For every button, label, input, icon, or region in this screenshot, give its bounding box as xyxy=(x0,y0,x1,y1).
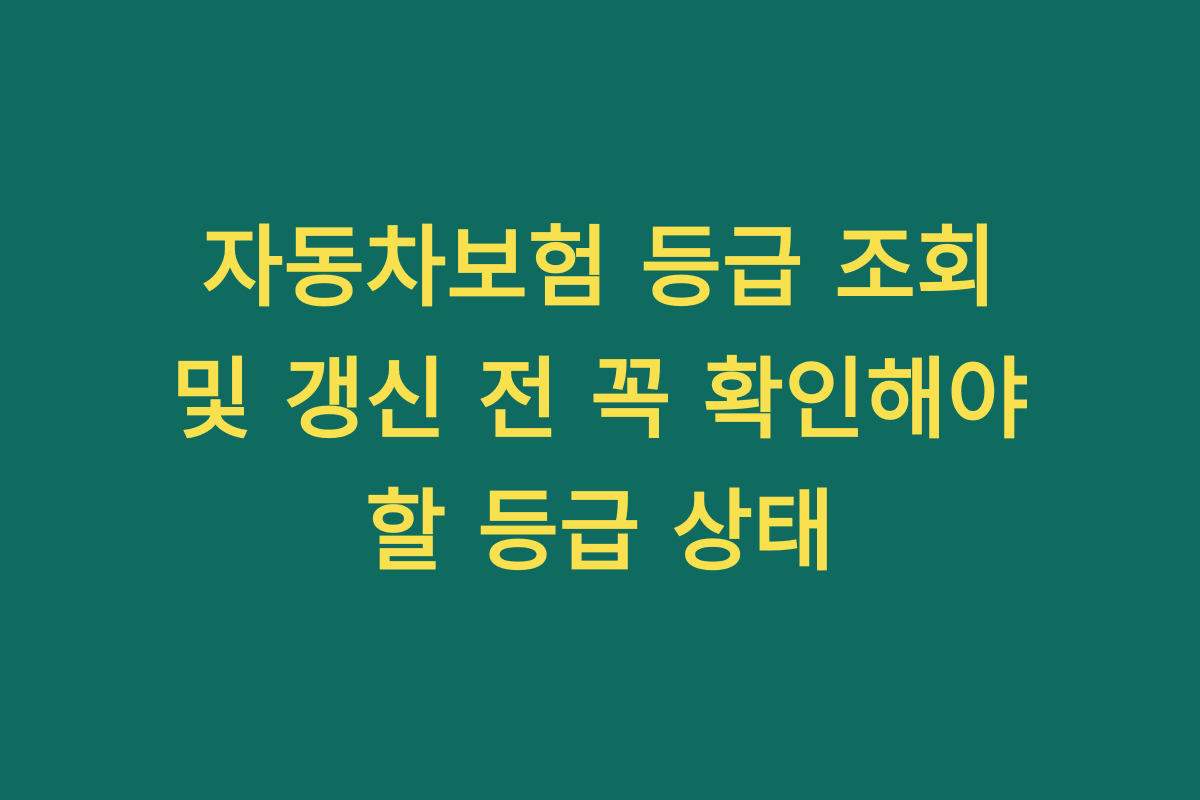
banner-canvas: 자동차보험 등급 조회 및 갱신 전 꼭 확인해야 할 등급 상태 xyxy=(0,0,1200,800)
headline-line-1: 자동차보험 등급 조회 xyxy=(60,202,1140,334)
headline-line-3: 할 등급 상태 xyxy=(60,466,1140,598)
headline-line-2: 및 갱신 전 꼭 확인해야 xyxy=(60,334,1140,466)
headline-text: 자동차보험 등급 조회 및 갱신 전 꼭 확인해야 할 등급 상태 xyxy=(0,202,1200,598)
